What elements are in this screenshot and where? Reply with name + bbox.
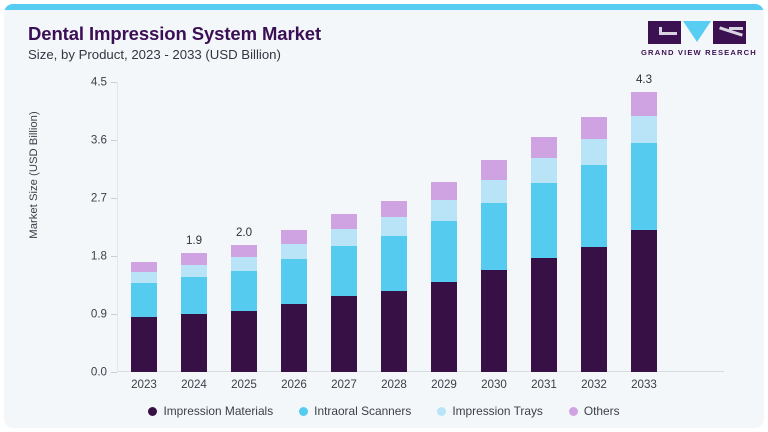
y-axis-line [117,82,118,372]
bar-segment[interactable] [431,182,457,200]
stacked-bar[interactable] [631,92,657,372]
y-axis-title: Market Size (USD Billion) [28,60,40,290]
bar-segment[interactable] [581,165,607,247]
bar-segment[interactable] [181,265,207,277]
bar-segment[interactable] [131,317,157,372]
bar-segment[interactable] [531,158,557,183]
bar-segment[interactable] [381,201,407,217]
bar-segment[interactable] [431,221,457,282]
bar-segment[interactable] [381,236,407,291]
bar-segment[interactable] [231,257,257,271]
bar-segment[interactable] [631,230,657,372]
bar-group[interactable]: 2029 [419,82,469,372]
bar-segment[interactable] [381,217,407,236]
y-axis-tick-label: 2.7 [47,192,107,205]
stacked-bar[interactable] [581,117,607,372]
x-axis-tick-label: 2027 [319,378,369,391]
bar-segment[interactable] [431,200,457,221]
y-axis-tick-mark [111,314,117,315]
bar-segment[interactable] [481,180,507,203]
y-axis-tick-mark [111,372,117,373]
bar-segment[interactable] [181,253,207,265]
bar-group[interactable]: 2023 [119,82,169,372]
x-axis-tick-label: 2031 [519,378,569,391]
bar-segment[interactable] [631,116,657,144]
chart-area: Market Size (USD Billion) 0.00.91.82.73.… [4,4,764,428]
bar-segment[interactable] [531,183,557,258]
stacked-bar[interactable] [281,230,307,372]
stacked-bar[interactable] [181,253,207,372]
stacked-bar[interactable] [531,137,557,372]
bar-segment[interactable] [581,139,607,165]
legend-label: Impression Materials [163,404,273,418]
legend-swatch-icon [148,407,157,416]
legend-item[interactable]: Impression Materials [148,404,273,418]
bar-segment[interactable] [481,160,507,180]
bar-segment[interactable] [131,283,157,317]
bar-segment[interactable] [531,258,557,372]
x-axis-tick-label: 2033 [619,378,669,391]
chart-legend: Impression MaterialsIntraoral ScannersIm… [4,404,764,418]
bar-group[interactable]: 2031 [519,82,569,372]
bar-group[interactable]: 2030 [469,82,519,372]
bar-segment[interactable] [581,247,607,372]
x-axis-tick-label: 2030 [469,378,519,391]
bar-segment[interactable] [231,245,257,257]
bar-group[interactable]: 20241.9 [169,82,219,372]
y-axis-tick-mark [111,256,117,257]
bar-segment[interactable] [381,291,407,372]
bar-segment[interactable] [281,244,307,259]
y-axis-tick-label: 4.5 [47,76,107,89]
y-axis-tick-label: 0.9 [47,308,107,321]
bar-segment[interactable] [281,304,307,372]
y-axis-tick-mark [111,198,117,199]
x-axis-tick-label: 2024 [169,378,219,391]
legend-swatch-icon [437,407,446,416]
stacked-bar[interactable] [231,245,257,372]
bar-group[interactable]: 2026 [269,82,319,372]
bar-segment[interactable] [331,246,357,296]
plot-region: 0.00.91.82.73.64.5202320241.920252.02026… [113,82,724,372]
bar-segment[interactable] [231,271,257,312]
bar-group[interactable]: 2028 [369,82,419,372]
legend-swatch-icon [299,407,308,416]
x-axis-tick-label: 2028 [369,378,419,391]
bar-group[interactable]: 2032 [569,82,619,372]
bar-segment[interactable] [581,117,607,139]
x-axis-tick-label: 2026 [269,378,319,391]
chart-card: Dental Impression System Market Size, by… [4,4,764,428]
legend-item[interactable]: Intraoral Scanners [299,404,411,418]
x-axis-tick-label: 2025 [219,378,269,391]
legend-item[interactable]: Impression Trays [437,404,543,418]
bar-value-label: 2.0 [215,226,273,239]
stacked-bar[interactable] [431,182,457,372]
legend-label: Impression Trays [452,404,543,418]
bar-segment[interactable] [331,296,357,372]
legend-item[interactable]: Others [569,404,620,418]
bar-segment[interactable] [331,229,357,246]
y-axis-tick-mark [111,140,117,141]
stacked-bar[interactable] [131,262,157,372]
x-axis-tick-label: 2032 [569,378,619,391]
bar-segment[interactable] [131,262,157,272]
y-axis-tick-mark [111,82,117,83]
x-axis-tick-label: 2023 [119,378,169,391]
bar-segment[interactable] [131,272,157,283]
legend-swatch-icon [569,407,578,416]
y-axis-tick-label: 0.0 [47,366,107,379]
bar-segment[interactable] [231,311,257,372]
bar-segment[interactable] [331,214,357,229]
bar-segment[interactable] [531,137,557,158]
bar-segment[interactable] [431,282,457,372]
legend-label: Intraoral Scanners [314,404,411,418]
bar-segment[interactable] [631,143,657,230]
stacked-bar[interactable] [331,214,357,372]
bar-segment[interactable] [481,270,507,372]
bar-segment[interactable] [181,277,207,314]
y-axis-tick-label: 1.8 [47,250,107,263]
x-axis-tick-label: 2029 [419,378,469,391]
bar-segment[interactable] [631,92,657,115]
bar-segment[interactable] [281,259,307,305]
bar-segment[interactable] [281,230,307,244]
stacked-bar[interactable] [381,201,407,372]
bar-segment[interactable] [481,203,507,271]
bar-group[interactable]: 2027 [319,82,369,372]
bar-group[interactable]: 20334.3 [619,82,669,372]
legend-label: Others [584,404,620,418]
bar-group[interactable]: 20252.0 [219,82,269,372]
bar-segment[interactable] [181,314,207,372]
y-axis-tick-label: 3.6 [47,134,107,147]
stacked-bar[interactable] [481,160,507,372]
bar-value-label: 4.3 [615,73,673,86]
